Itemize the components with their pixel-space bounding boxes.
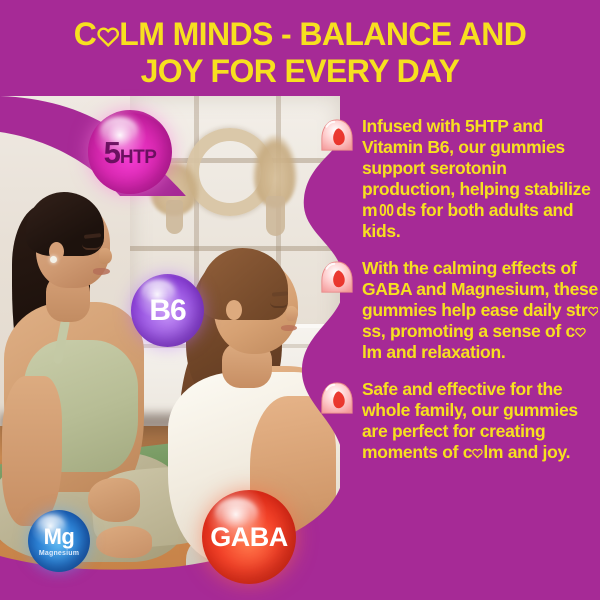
heart-outline-icon	[97, 26, 119, 47]
badge-b6: B6	[131, 274, 204, 347]
woman-foot	[96, 526, 152, 558]
badge-gaba: GABA	[202, 490, 296, 584]
list-item-text: With the calming effects of GABA and Mag…	[362, 258, 600, 363]
product-poster: CLM MINDS - BALANCE AND JOY FOR EVERY DA…	[0, 0, 600, 600]
vase	[266, 196, 285, 236]
woman-earring	[50, 256, 57, 263]
list-item: With the calming effects of GABA and Mag…	[318, 258, 600, 363]
bullet-1-special: 00	[379, 200, 394, 221]
woman-hand	[88, 478, 140, 522]
girl-ear	[226, 300, 242, 320]
badge-magnesium: Mg Magnesium	[28, 510, 90, 572]
list-item-text: Infused with 5HTP and Vitamin B6, our gu…	[362, 116, 600, 242]
headline-suffix: LM MINDS - BALANCE AND	[119, 16, 526, 52]
girl-nose	[286, 306, 298, 321]
bullet-3-seg2: lm and joy.	[483, 442, 570, 462]
heart-outline-icon	[575, 327, 586, 338]
headline-line-2: JOY FOR EVERY DAY	[141, 53, 460, 89]
bullet-2-seg1: With the calming effects of GABA and Mag…	[362, 258, 598, 320]
benefits-list: Infused with 5HTP and Vitamin B6, our gu…	[318, 116, 600, 479]
heart-outline-icon	[588, 306, 599, 317]
list-item: Safe and effective for the whole family,…	[318, 379, 600, 463]
list-item-text: Safe and effective for the whole family,…	[362, 379, 600, 463]
badge-5htp-primary: 5	[104, 137, 120, 168]
gummy-bear-icon	[318, 118, 356, 154]
list-item: Infused with 5HTP and Vitamin B6, our gu…	[318, 116, 600, 242]
headline-prefix: C	[74, 16, 97, 52]
woman-nose	[99, 248, 112, 264]
vase	[166, 200, 183, 234]
badge-5htp: 5 HTP	[88, 110, 172, 194]
headline-line-1: CLM MINDS - BALANCE AND	[74, 16, 526, 52]
bullet-2-seg2: ss, promoting a sense of c	[362, 321, 575, 341]
badge-gaba-label: GABA	[210, 524, 288, 551]
woman-closed-eye	[82, 244, 101, 250]
badge-mg-name: Magnesium	[39, 550, 79, 557]
page-title: CLM MINDS - BALANCE AND JOY FOR EVERY DA…	[0, 16, 600, 90]
badge-5htp-secondary: HTP	[120, 148, 157, 167]
woman-arm	[2, 376, 62, 526]
badge-mg-symbol: Mg	[44, 526, 75, 548]
badge-b6-label: B6	[149, 296, 185, 326]
bullet-2-seg3: lm and relaxation.	[362, 342, 505, 362]
gummy-bear-icon	[318, 381, 356, 417]
gummy-bear-icon	[318, 260, 356, 296]
heart-outline-icon	[472, 448, 483, 459]
